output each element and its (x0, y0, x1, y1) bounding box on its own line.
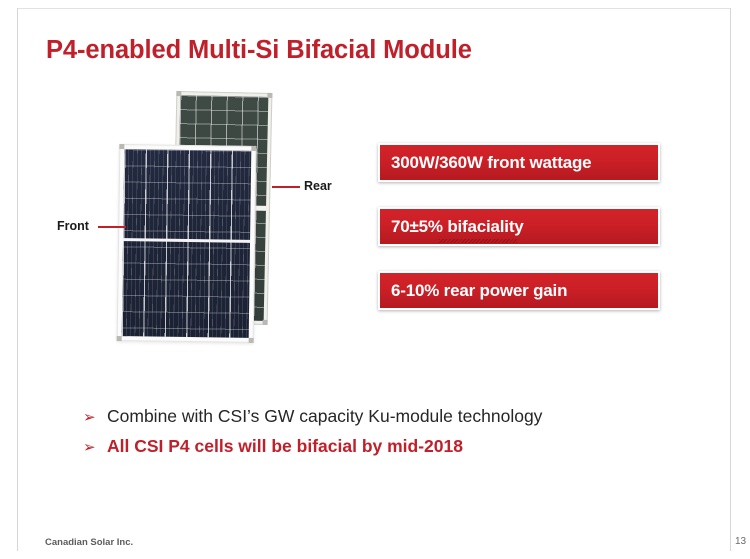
frame-corner-nub (119, 144, 124, 149)
arrow-bullet-icon: ➢ (83, 410, 107, 425)
spec-callout-text: 300W/360W front wattage (380, 153, 591, 173)
front-panel-half-cut-split (123, 238, 250, 243)
frame-corner-nub (176, 91, 181, 96)
slide-frame-right-border (730, 8, 731, 551)
front-panel-image (117, 144, 257, 343)
frame-corner-nub (249, 338, 254, 343)
footer-company-name: Canadian Solar Inc. (45, 537, 133, 548)
page-title: P4-enabled Multi-Si Bifacial Module (46, 36, 472, 65)
presentation-slide: P4-enabled Multi-Si Bifacial Module Fron… (0, 0, 750, 559)
spec-callout-front-wattage: 300W/360W front wattage (378, 143, 660, 182)
spellcheck-underline (439, 239, 517, 243)
slide-frame-left-border (17, 8, 18, 551)
frame-corner-nub (117, 336, 122, 341)
rear-leader-line (272, 186, 300, 188)
list-item: ➢ Combine with CSI’s GW capacity Ku-modu… (83, 406, 542, 427)
slide-frame-top-border (17, 8, 731, 9)
spec-callout-bifaciality: 70±5% bifaciality (378, 207, 660, 246)
list-item-label: All CSI P4 cells will be bifacial by mid… (107, 436, 463, 457)
arrow-bullet-icon: ➢ (83, 440, 107, 455)
frame-corner-nub (263, 320, 268, 325)
spec-callout-list: 300W/360W front wattage 70±5% bifacialit… (378, 143, 660, 335)
front-leader-line (98, 226, 126, 228)
spec-callout-text: 70±5% bifaciality (380, 217, 524, 237)
front-callout-label: Front (57, 219, 89, 233)
spec-callout-rear-power-gain: 6-10% rear power gain (378, 271, 660, 310)
spec-callout-text: 6-10% rear power gain (380, 281, 567, 301)
frame-corner-nub (251, 146, 256, 151)
list-item: ➢ All CSI P4 cells will be bifacial by m… (83, 436, 542, 457)
frame-corner-nub (267, 93, 272, 98)
list-item-label: Combine with CSI’s GW capacity Ku-module… (107, 406, 542, 427)
slide-page-number: 13 (735, 536, 746, 547)
bullet-list: ➢ Combine with CSI’s GW capacity Ku-modu… (83, 406, 542, 466)
bifacial-module-illustration (118, 92, 388, 342)
front-panel-cell-grid (122, 149, 252, 338)
rear-callout-label: Rear (304, 179, 332, 193)
